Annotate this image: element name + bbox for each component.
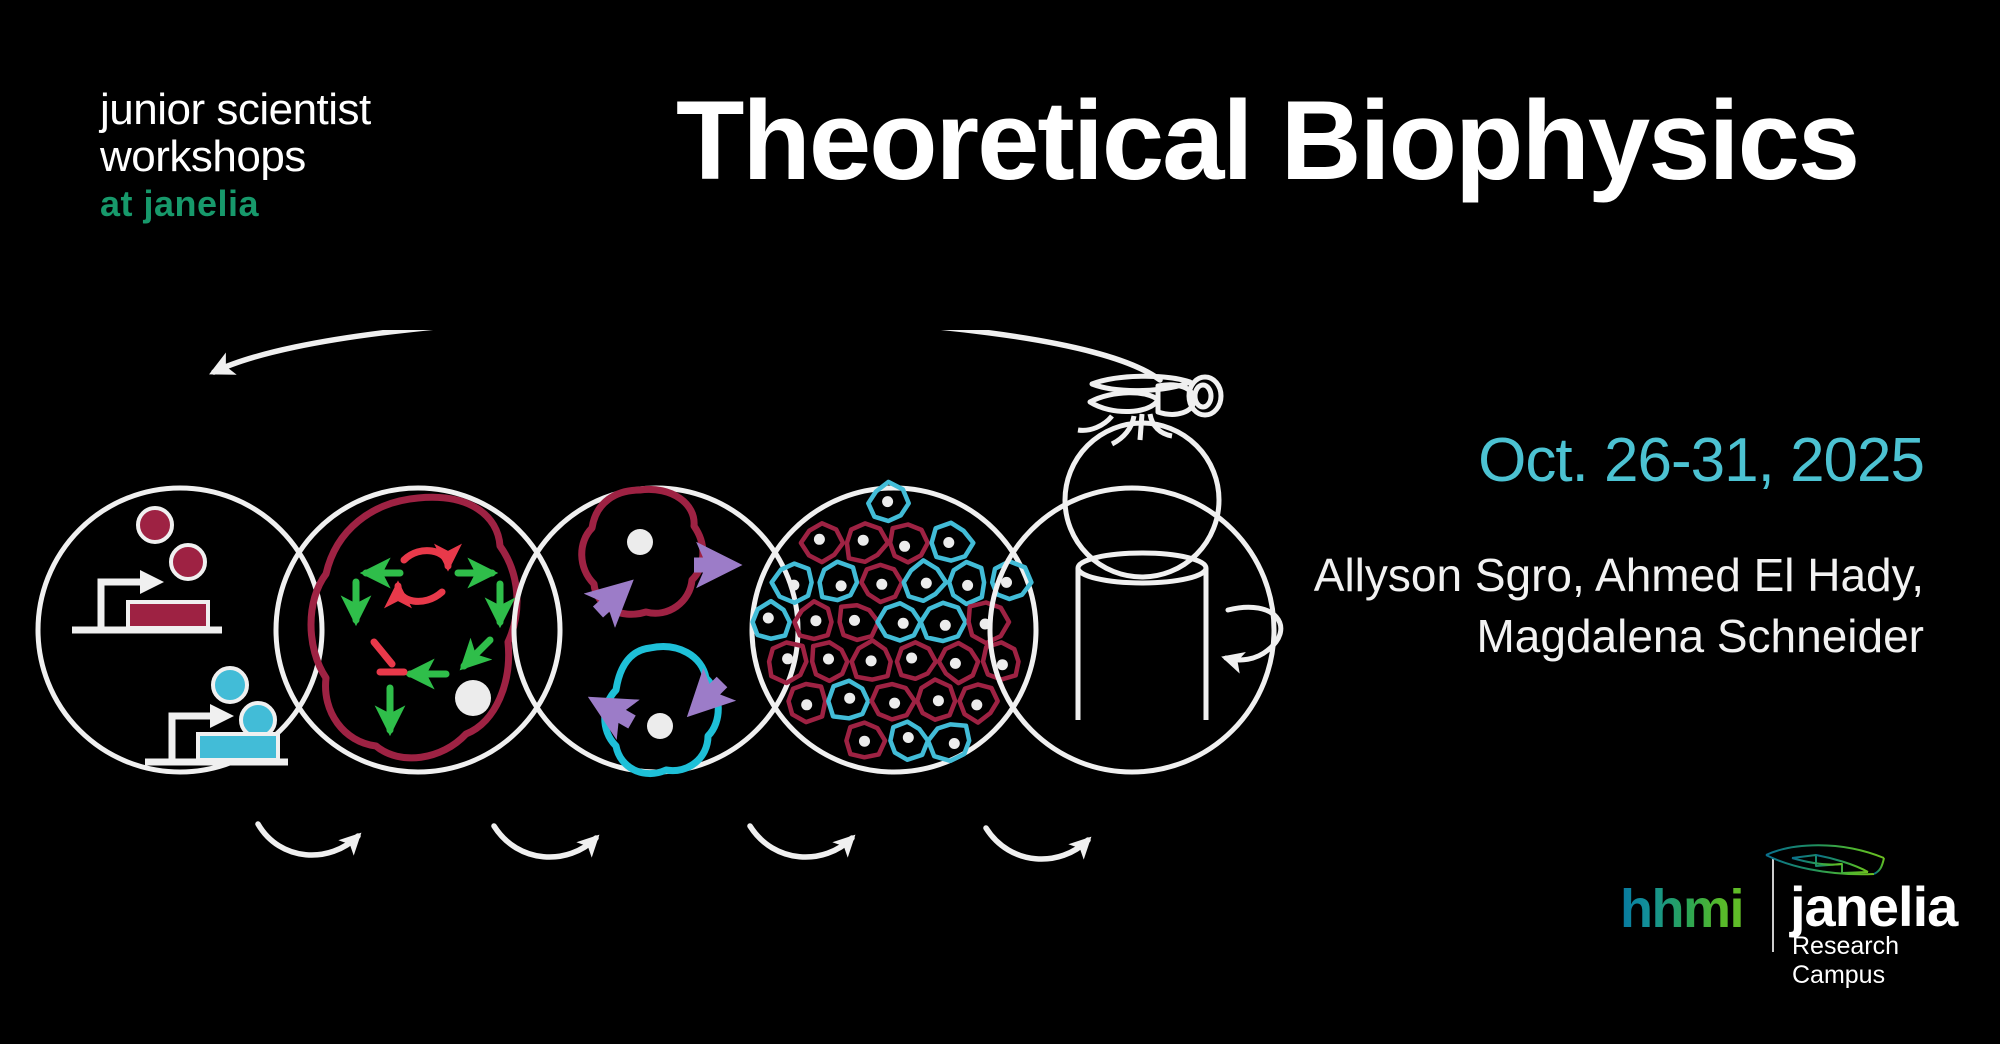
nucleus	[647, 713, 673, 739]
tissue-cell	[820, 562, 857, 600]
jsw-logo-tagline: at janelia	[100, 186, 371, 222]
step-arrow-3	[750, 826, 852, 857]
page-title: Theoretical Biophysics	[676, 76, 1858, 205]
tissue-cell-nucleus	[823, 654, 834, 665]
jsw-logo-line1: junior scientist	[100, 88, 371, 132]
multiscale-biology-illustration	[0, 330, 1340, 890]
tissue-cell-nucleus	[849, 615, 860, 626]
red-protein-dot	[171, 545, 205, 579]
tissue-cell-nucleus	[949, 738, 960, 749]
cyan-protein-dot	[213, 668, 247, 702]
large-feedback-arrow	[214, 330, 1160, 380]
step-arrow-2	[494, 826, 596, 857]
tissue-cell-nucleus	[889, 698, 900, 709]
tissue-cell-nucleus	[782, 653, 793, 664]
tissue-cell	[928, 724, 969, 761]
janelia-wordmark: janelia	[1790, 874, 1957, 939]
step-arrow-4	[986, 828, 1088, 859]
red-protein-dot	[138, 508, 172, 542]
tissue-cell-nucleus	[859, 736, 870, 747]
tissue-cell-nucleus	[921, 578, 932, 589]
tissue-cell-nucleus	[801, 699, 812, 710]
jsw-logo-line2: workshops	[100, 135, 371, 179]
red-inhibition-arrows	[374, 551, 448, 672]
tissue-cell-nucleus	[940, 620, 951, 631]
hhmi-wordmark: hhmi	[1620, 878, 1743, 940]
white-nucleus	[455, 680, 491, 716]
junior-scientist-workshops-logo: junior scientist workshops at janelia	[100, 88, 371, 222]
step-arrow-1	[258, 824, 358, 855]
cyan-protein-dot	[241, 703, 275, 737]
janelia-subtitle: Research Campus	[1792, 932, 1950, 990]
poster-canvas: junior scientist workshops at janelia Th…	[0, 0, 2000, 1044]
tissue-cell-nucleus	[971, 699, 982, 710]
tissue-cell-nucleus	[866, 655, 877, 666]
tissue-cell-nucleus	[810, 615, 821, 626]
step-arrows	[258, 824, 1088, 859]
tissue-cell-nucleus	[836, 580, 847, 591]
red-cell-outline	[311, 497, 517, 758]
nucleus	[627, 529, 653, 555]
tissue-cell-nucleus	[997, 659, 1008, 670]
tissue-cell-nucleus	[950, 658, 961, 669]
tissue-cell-nucleus	[882, 496, 893, 507]
behavior-panel	[990, 376, 1281, 772]
tissue-cell-nucleus	[814, 534, 825, 545]
tissue-cell-nucleus	[876, 579, 887, 590]
tissue-cell-nucleus	[898, 618, 909, 629]
tissue-cell-nucleus	[899, 541, 910, 552]
tissue-cell-nucleus	[788, 580, 799, 591]
tissue-panel	[752, 482, 1036, 772]
hhmi-janelia-logo: hhmi janelia Research Campus	[1620, 840, 1950, 955]
event-dates: Oct. 26-31, 2025	[1478, 425, 1924, 496]
tissue-cell-nucleus	[858, 535, 869, 546]
tissue-cell-nucleus	[1001, 577, 1012, 588]
tissue-cell-nucleus	[844, 693, 855, 704]
tissue-cell-nucleus	[903, 732, 914, 743]
tissue-cell-nucleus	[933, 695, 944, 706]
tissue-cell-nucleus	[943, 537, 954, 548]
gene-regulatory-network-panel	[276, 488, 560, 772]
tissue-cell-nucleus	[763, 613, 774, 624]
red-promoter-gene	[72, 570, 222, 630]
gene-expression-panel	[38, 488, 322, 772]
tissue-cell-nucleus	[962, 580, 973, 591]
tissue-cell-nucleus	[906, 653, 917, 664]
